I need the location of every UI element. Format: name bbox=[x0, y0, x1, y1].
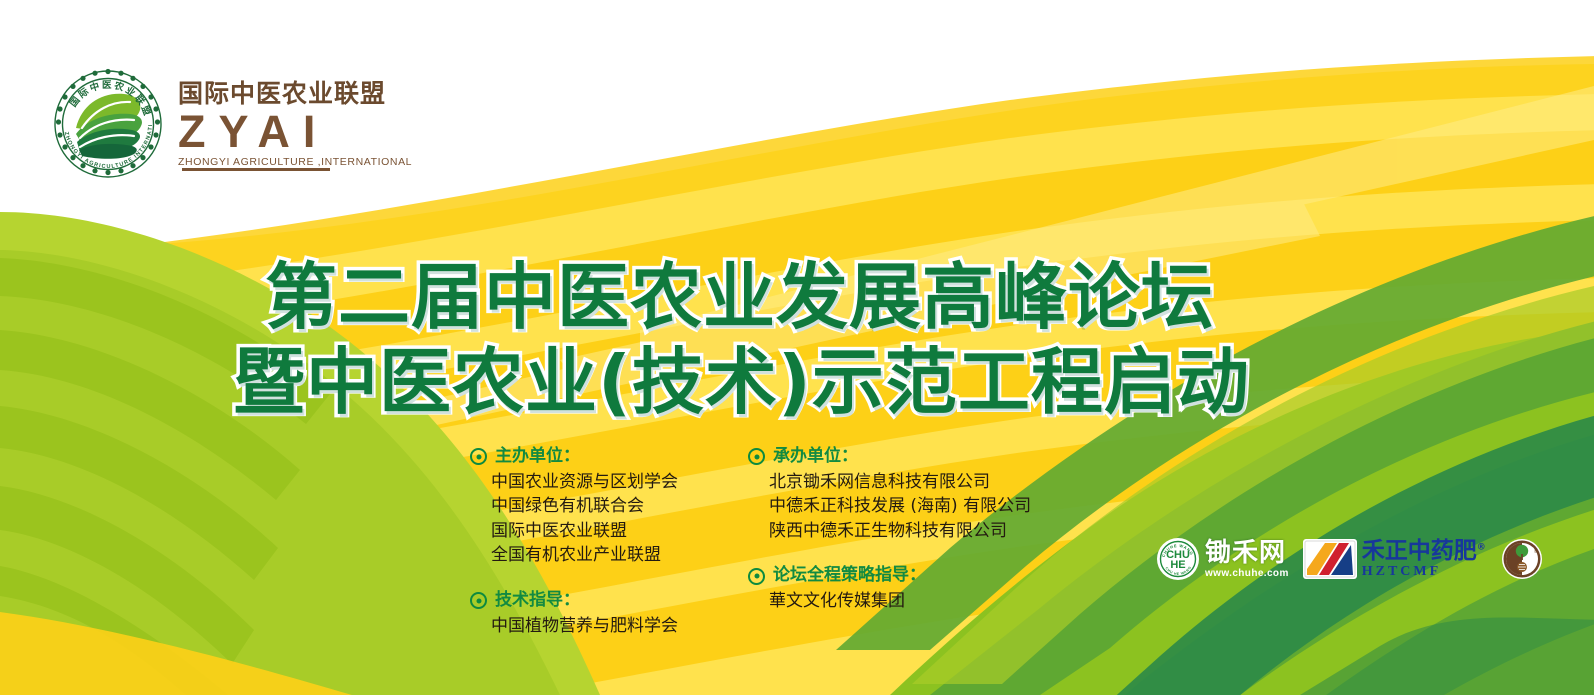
list-item: 北京锄禾网信息科技有限公司 bbox=[769, 470, 1031, 495]
credit-heading: 承办单位： bbox=[748, 444, 1031, 470]
zyai-seal-icon: 国际中医农业联盟 ZHONGYI AGRICULTURE INTERNATION… bbox=[52, 68, 164, 180]
credits-right-column: 承办单位： 北京锄禾网信息科技有限公司 中德禾正科技发展 (海南) 有限公司 陕… bbox=[748, 444, 1031, 644]
credit-heading-label: 技术指导： bbox=[495, 588, 580, 614]
credit-heading: 论坛全程策略指导： bbox=[748, 563, 1031, 589]
hztcmf-flag-icon bbox=[1303, 539, 1357, 579]
zyai-wordmark: 国际中医农业联盟 ZYAI ZHONGYI AGRICULTURE ,INTER… bbox=[178, 81, 412, 168]
chuhe-seal-icon: CHUHE WANG CHU HE WANG CHU HE bbox=[1156, 537, 1200, 581]
bullet-ring-icon bbox=[470, 592, 487, 609]
hztcmf-wordmark: 禾正中药肥® HZTCMF bbox=[1362, 540, 1486, 579]
list-item: 華文文化传媒集团 bbox=[769, 589, 1031, 614]
credit-group-organizers: 主办单位： 中国农业资源与区划学会 中国绿色有机联合会 国际中医农业联盟 全国有… bbox=[470, 444, 732, 568]
credit-heading: 技术指导： bbox=[470, 588, 732, 614]
list-item: 中国农业资源与区划学会 bbox=[491, 470, 732, 495]
sponsor-tree-emblem: ® bbox=[1500, 528, 1546, 590]
zyai-acronym: ZYAI bbox=[178, 109, 412, 154]
zyai-english-name: ZHONGYI AGRICULTURE ,INTERNATIONAL bbox=[178, 157, 412, 168]
credit-group-strategy-guidance: 论坛全程策略指导： 華文文化传媒集团 bbox=[748, 563, 1031, 613]
bullet-ring-icon bbox=[748, 448, 765, 465]
sponsor-logo-row: CHUHE WANG CHU HE WANG CHU HE 锄禾网 www.ch… bbox=[1156, 528, 1546, 590]
page-title-line-2: 暨中医农业(技术)示范工程启动 bbox=[233, 323, 1250, 428]
zyai-logo-block: 国际中医农业联盟 ZHONGYI AGRICULTURE INTERNATION… bbox=[52, 68, 412, 180]
zyai-chinese-name: 国际中医农业联盟 bbox=[178, 81, 412, 106]
credit-list: 北京锄禾网信息科技有限公司 中德禾正科技发展 (海南) 有限公司 陕西中德禾正生… bbox=[769, 470, 1031, 544]
credits-block: 主办单位： 中国农业资源与区划学会 中国绿色有机联合会 国际中医农业联盟 全国有… bbox=[470, 444, 1031, 644]
registered-mark: ® bbox=[1477, 542, 1486, 552]
list-item: 全国有机农业产业联盟 bbox=[491, 543, 732, 568]
bullet-ring-icon bbox=[748, 568, 765, 585]
credit-heading-label: 论坛全程策略指导： bbox=[773, 563, 926, 589]
spacer bbox=[748, 549, 1031, 563]
list-item: 中国植物营养与肥料学会 bbox=[491, 614, 732, 639]
hztcmf-name-en: HZTCMF bbox=[1362, 565, 1486, 579]
credit-list: 中国植物营养与肥料学会 bbox=[491, 614, 732, 639]
list-item: 中德禾正科技发展 (海南) 有限公司 bbox=[769, 494, 1031, 519]
list-item: 中国绿色有机联合会 bbox=[491, 494, 732, 519]
credit-heading-label: 主办单位： bbox=[495, 444, 580, 470]
chuhe-wordmark: 锄禾网 www.chuhe.com bbox=[1205, 540, 1289, 579]
spacer bbox=[470, 574, 732, 588]
sponsor-chuhe: CHUHE WANG CHU HE WANG CHU HE 锄禾网 www.ch… bbox=[1156, 528, 1289, 590]
chuhe-name-cn: 锄禾网 bbox=[1205, 540, 1289, 566]
hztcmf-name-cn: 禾正中药肥® bbox=[1362, 540, 1486, 563]
svg-text:HE: HE bbox=[1170, 559, 1185, 571]
list-item: 国际中医农业联盟 bbox=[491, 519, 732, 544]
tree-circle-icon: ® bbox=[1500, 536, 1546, 582]
credit-group-technical-guidance: 技术指导： 中国植物营养与肥料学会 bbox=[470, 588, 732, 638]
event-banner: 国际中医农业联盟 ZHONGYI AGRICULTURE INTERNATION… bbox=[0, 0, 1594, 695]
chuhe-url: www.chuhe.com bbox=[1205, 569, 1289, 579]
credit-heading: 主办单位： bbox=[470, 444, 732, 470]
credit-list: 中国农业资源与区划学会 中国绿色有机联合会 国际中医农业联盟 全国有机农业产业联… bbox=[491, 470, 732, 569]
list-item: 陕西中德禾正生物科技有限公司 bbox=[769, 519, 1031, 544]
registered-mark-small: ® bbox=[1534, 548, 1538, 555]
bullet-ring-icon bbox=[470, 448, 487, 465]
credit-group-co-organizers: 承办单位： 北京锄禾网信息科技有限公司 中德禾正科技发展 (海南) 有限公司 陕… bbox=[748, 444, 1031, 543]
logo-underline-rule bbox=[182, 168, 330, 171]
credit-heading-label: 承办单位： bbox=[773, 444, 858, 470]
credits-left-column: 主办单位： 中国农业资源与区划学会 中国绿色有机联合会 国际中医农业联盟 全国有… bbox=[470, 444, 732, 644]
credit-list: 華文文化传媒集团 bbox=[769, 589, 1031, 614]
sponsor-hztcmf: 禾正中药肥® HZTCMF bbox=[1303, 528, 1486, 590]
